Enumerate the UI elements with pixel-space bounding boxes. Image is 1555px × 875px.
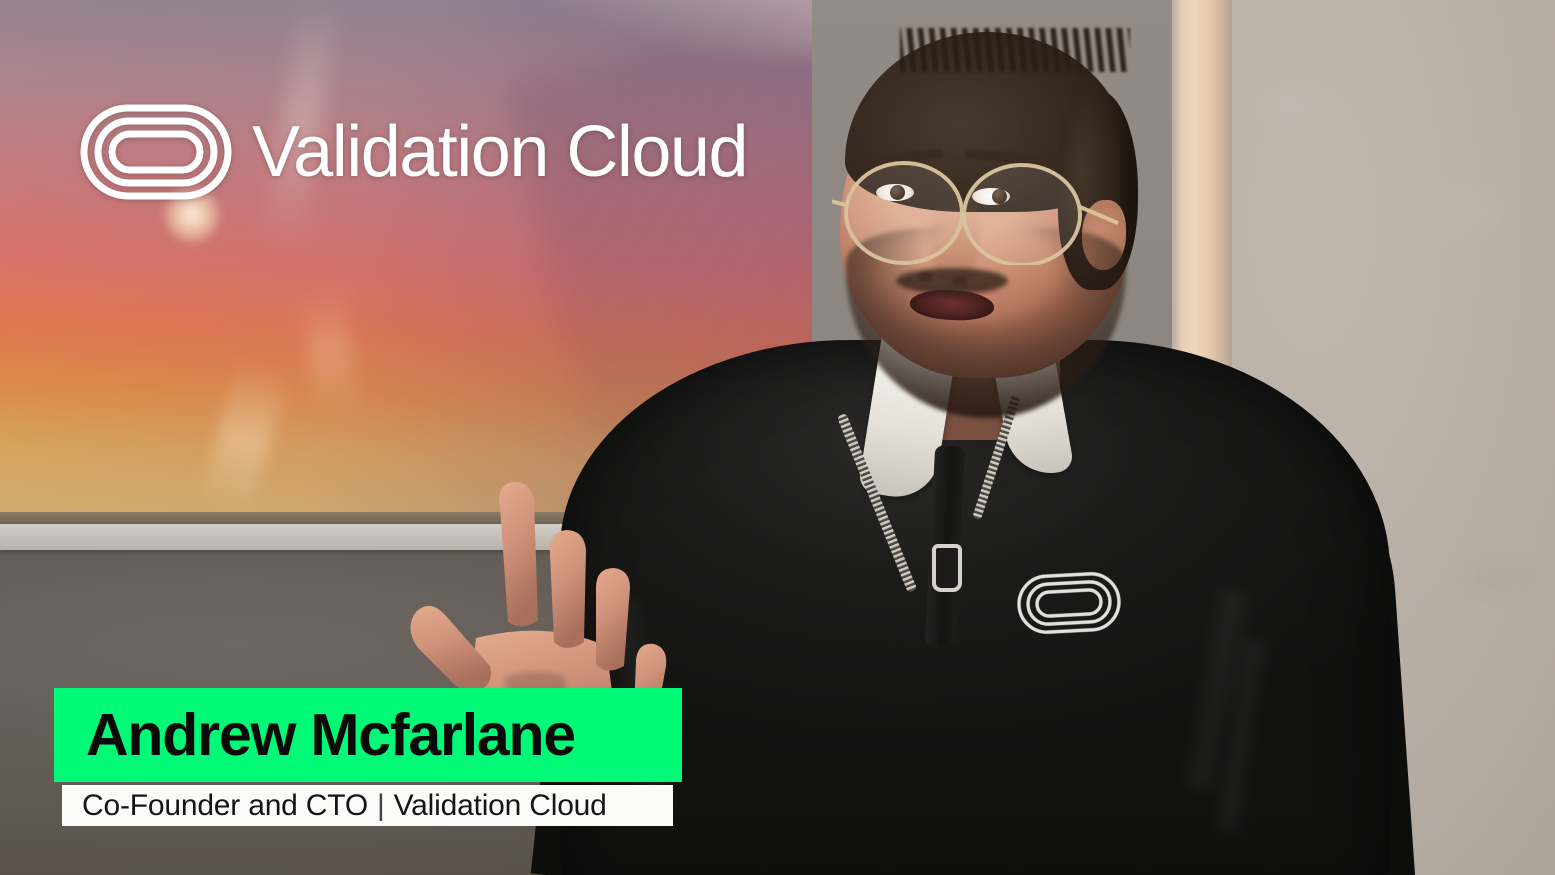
mustache xyxy=(896,268,1008,294)
chest-concentric-stadium-logo-icon xyxy=(1014,569,1123,636)
zipper-pull xyxy=(932,544,962,592)
title-separator: | xyxy=(368,789,394,822)
video-frame: Validation Cloud xyxy=(0,0,1555,875)
speaker-name: Andrew Mcfarlane xyxy=(86,706,575,765)
hair-texture xyxy=(900,28,1130,72)
speaker-role: Co-Founder and CTO xyxy=(82,789,368,822)
speaker-company: Validation Cloud xyxy=(394,789,607,822)
name-bar: Andrew Mcfarlane xyxy=(54,688,682,782)
eyeglasses-icon xyxy=(832,155,1132,265)
speaker-title-line: Co-Founder and CTO|Validation Cloud xyxy=(82,791,607,821)
title-bar: Co-Founder and CTO|Validation Cloud xyxy=(62,785,673,826)
